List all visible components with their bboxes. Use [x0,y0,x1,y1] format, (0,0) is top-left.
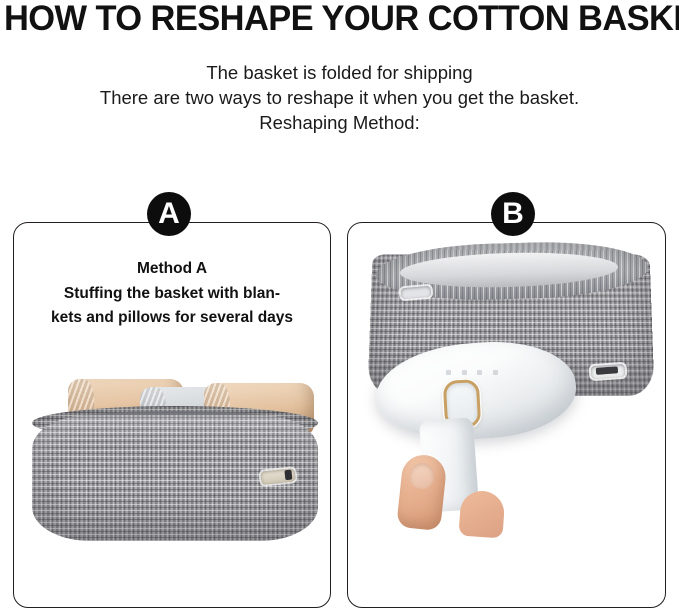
method-b-photo [348,223,665,607]
steamer-dot-1 [446,370,451,375]
subtitle-line-3: Reshaping Method: [0,110,679,135]
subtitle-block: The basket is folded for shipping There … [0,60,679,135]
subtitle-line-2: There are two ways to reshape it when yo… [0,85,679,110]
basket-b-handle-right [591,364,626,379]
steamer-indicator-dots [446,368,498,376]
steamer-dot-3 [477,370,482,375]
hand-finger [458,490,505,539]
infographic-page: HOW TO RESHAPE YOUR COTTON BASKET The ba… [0,0,679,611]
subtitle-line-1: The basket is folded for shipping [0,60,679,85]
steamer-dot-4 [493,370,498,375]
page-title: HOW TO RESHAPE YOUR COTTON BASKET [4,0,665,39]
badge-b: B [491,192,535,236]
steamer-dot-2 [462,370,467,375]
method-b-panel: Method B Steaming a basket on a steam ir… [347,222,666,608]
badge-a: A [147,192,191,236]
method-a-photo [14,223,330,607]
method-a-panel: Method A Stuffing the basket with blan- … [13,222,331,608]
